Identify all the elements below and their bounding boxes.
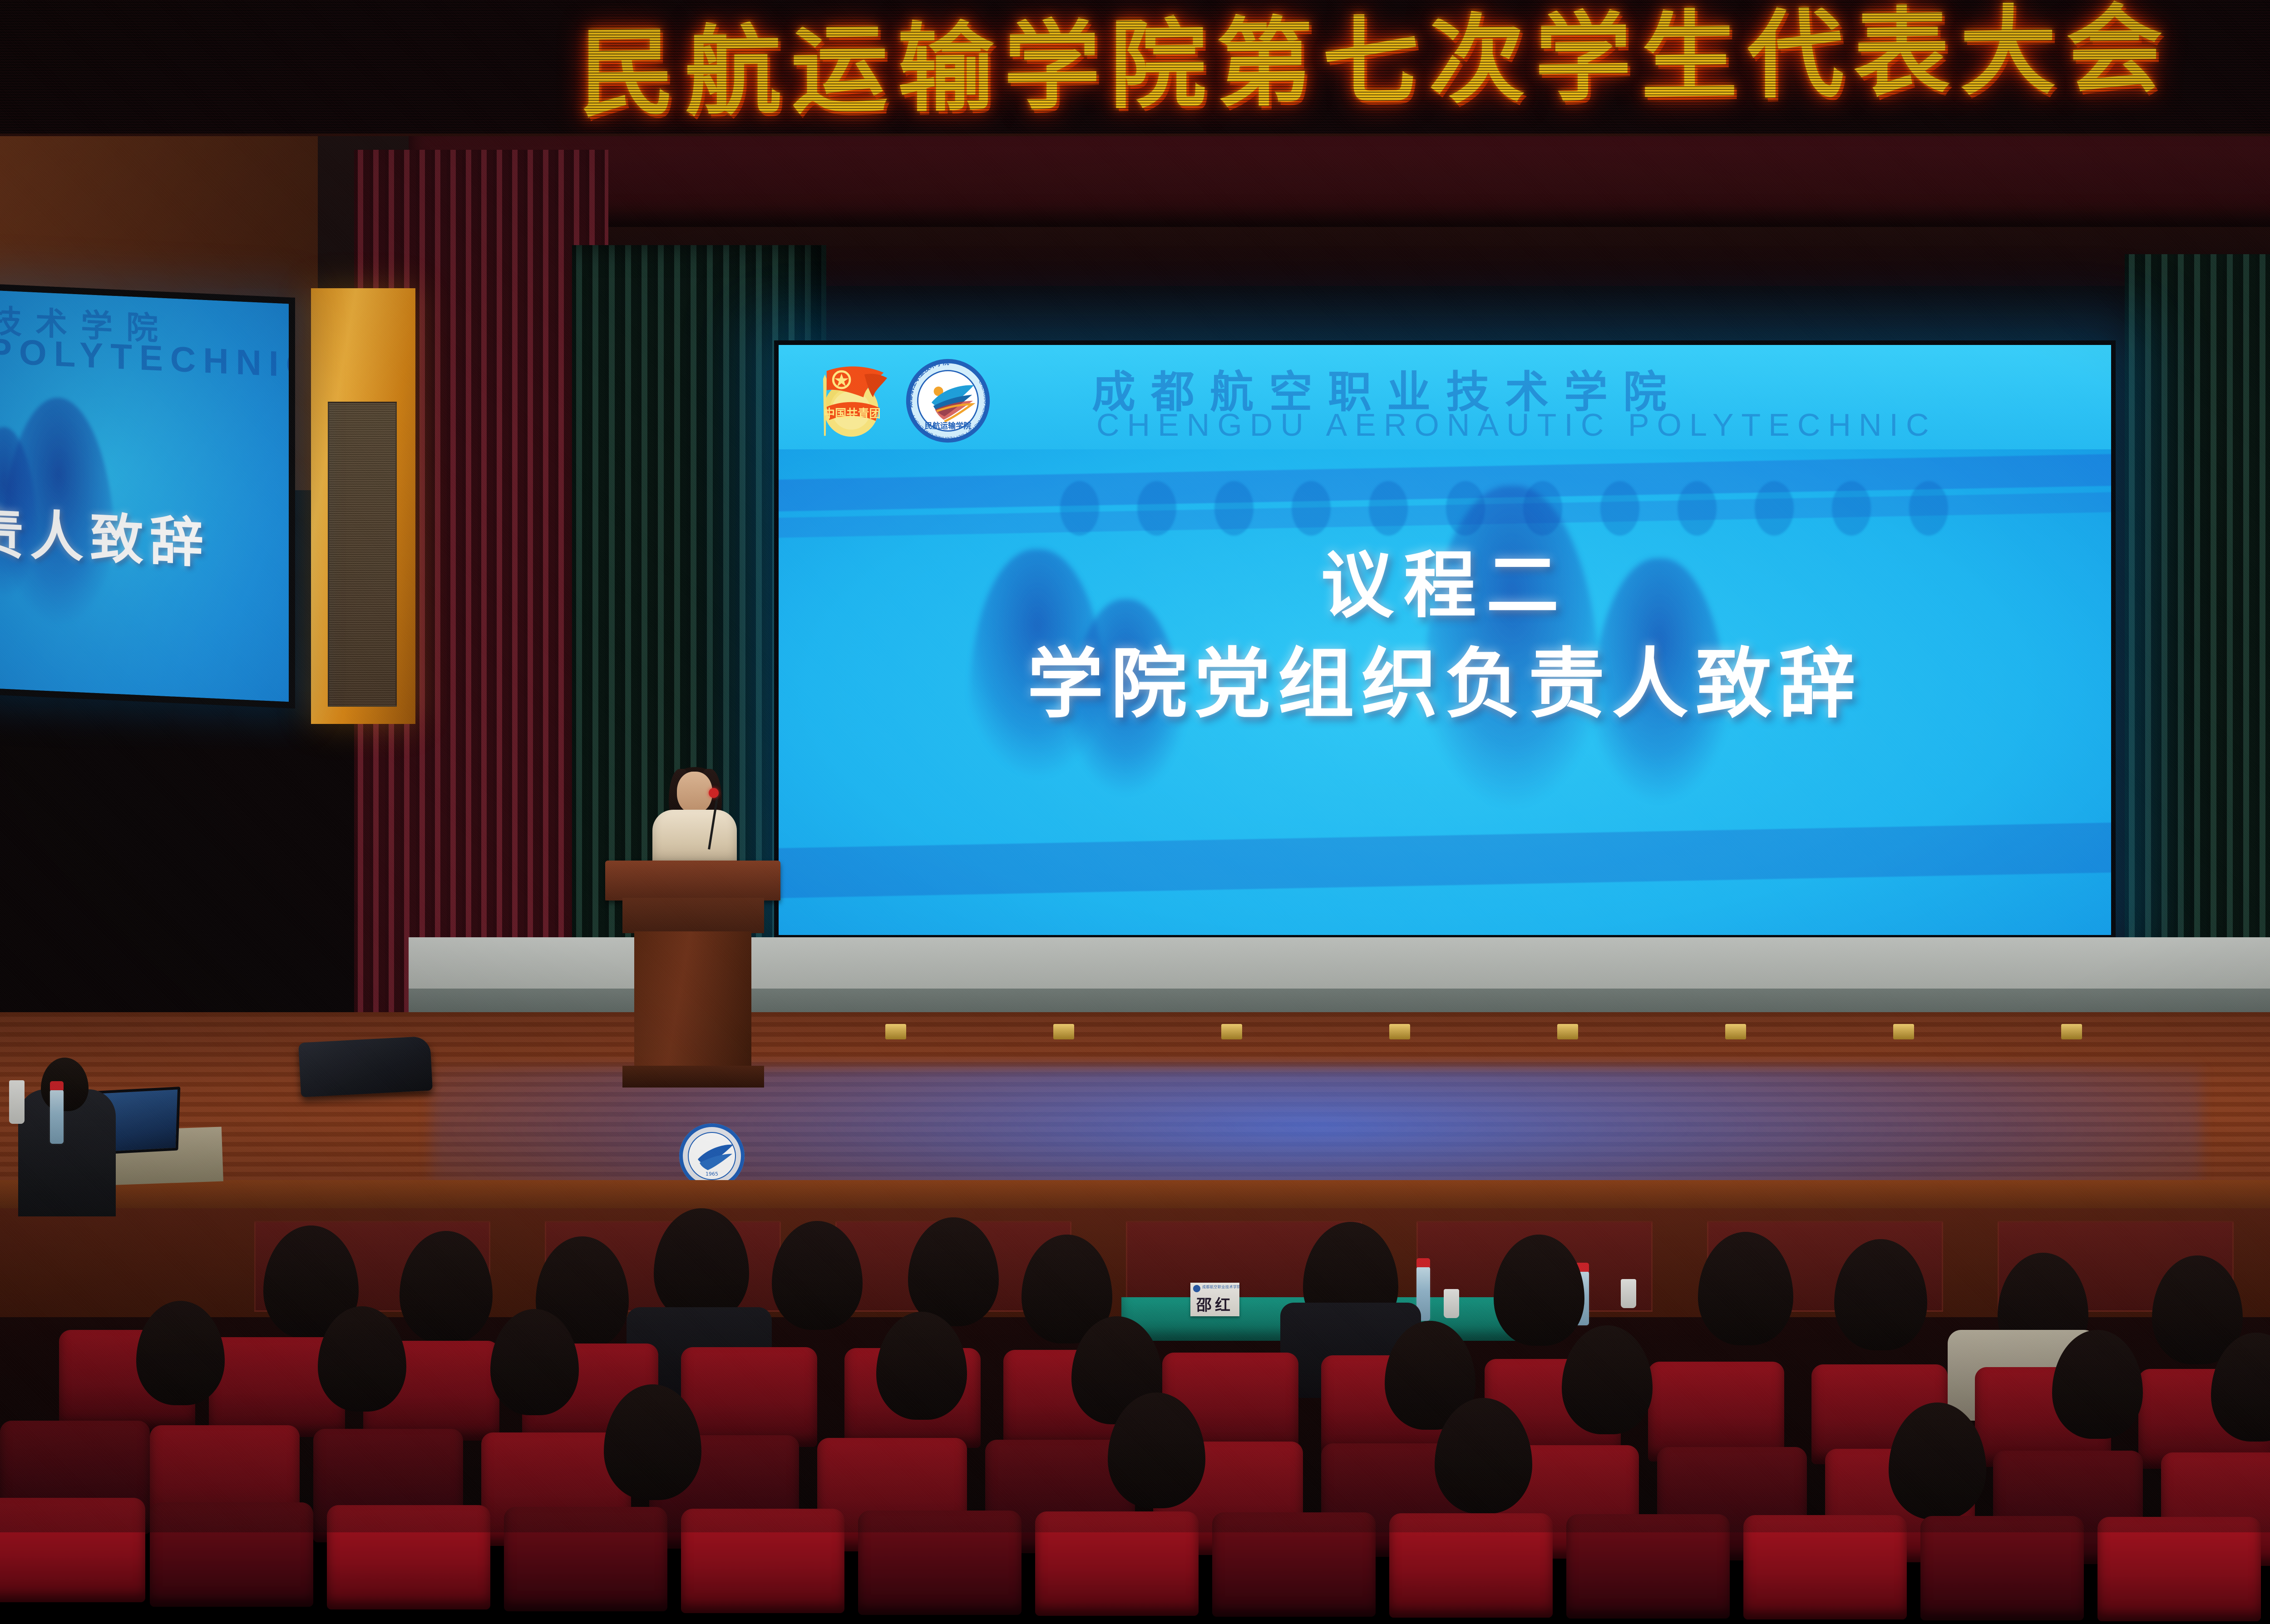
slide-title-block: 议程二 学院党组织负责人致辞 (779, 545, 2111, 727)
paper-cup (1621, 1279, 1636, 1308)
audience-seat (327, 1505, 490, 1609)
footlight (1053, 1024, 1074, 1039)
audience-seat (1743, 1515, 1907, 1619)
water-bottle (50, 1089, 64, 1144)
svg-text:中国共青团: 中国共青团 (824, 407, 881, 420)
podium-neck (622, 898, 764, 933)
presenter-figure (649, 772, 740, 867)
slide-institution-en: CHENGDU AERONAUTIC POLYTECHNIC (1096, 407, 2073, 443)
slide-ribbon (774, 821, 2116, 899)
svg-text:1965: 1965 (706, 1171, 718, 1177)
audience-seat (681, 1347, 817, 1447)
slide-title-line2: 学院党组织负责人致辞 (779, 641, 2111, 727)
presenter-head (677, 772, 712, 813)
audience-seat (2097, 1517, 2261, 1621)
footlight (1725, 1024, 1746, 1039)
footlight (2061, 1024, 2082, 1039)
speaker-grille (328, 402, 397, 707)
placard-org: 成都航空职业技术学院 (1202, 1284, 1239, 1289)
audience-seat (1035, 1511, 1199, 1616)
audience-seat (1648, 1362, 1784, 1462)
footlight (885, 1024, 906, 1039)
footlight (1221, 1024, 1242, 1039)
microphone-head-icon (709, 788, 719, 798)
communist-youth-league-emblem-icon: 中国共青团 (805, 361, 894, 438)
paper-cup (1444, 1289, 1459, 1318)
led-banner-text: 民航运输学院第七次学生代表大会 (395, 0, 2270, 136)
audience-seat (504, 1507, 667, 1611)
name-placard: 成都航空职业技术学院 邵红 (1190, 1283, 1239, 1316)
curtain-green-right (2125, 254, 2270, 1044)
audience-seat (150, 1502, 313, 1607)
monitor-visible-text: 责人致辞 (0, 489, 295, 581)
paper-cup (9, 1080, 25, 1124)
footlight (1893, 1024, 1914, 1039)
bottle-cap (50, 1081, 64, 1090)
podium-top (605, 861, 780, 901)
placard-logo-icon (1193, 1285, 1200, 1292)
school-crest-icon: 民航运输学院 成都航空职业技术学院 CHENGDU AERONAUTIC POL… (905, 358, 991, 444)
monitor-institution-en: POLYTECHNIC (0, 330, 295, 386)
footlight (1389, 1024, 1410, 1039)
presenter-jacket (652, 810, 737, 866)
house-wood-rail (0, 1180, 2270, 1212)
audience-seat (1920, 1516, 2084, 1620)
screen-surface: 成都航空职业技术学院 CHENGDU AERONAUTIC POLYTECHNI… (779, 345, 2111, 935)
slide-title-line1: 议程二 (779, 545, 2111, 626)
audience-seat (0, 1498, 145, 1602)
bottle-cap (1416, 1258, 1430, 1267)
side-monitor-left: 技术学院 POLYTECHNIC 责人致辞 (0, 283, 295, 709)
audience-seat (858, 1511, 1021, 1615)
audience-seat (1212, 1512, 1376, 1617)
stage-floor-monitor-left (298, 1036, 433, 1097)
placard-name: 邵红 (1190, 1293, 1239, 1315)
audience-seat (1566, 1514, 1730, 1619)
audience-seat (681, 1509, 844, 1613)
slide-window-row (779, 481, 2111, 545)
stage-valance (409, 136, 2270, 227)
speaker-column-left (311, 288, 415, 724)
audience-seat (1389, 1513, 1553, 1618)
podium-group: 1965 (615, 772, 770, 1098)
podium-base (622, 1066, 764, 1088)
svg-text:民航运输学院: 民航运输学院 (925, 421, 972, 431)
podium-body: 1965 (634, 931, 751, 1068)
auditorium-scene: 民航运输学院第七次学生代表大会 (0, 0, 2270, 1532)
led-banner: 民航运输学院第七次学生代表大会 (0, 0, 2270, 136)
footlight (1557, 1024, 1578, 1039)
monitor-surface: 技术学院 POLYTECHNIC 责人致辞 (0, 290, 289, 702)
main-led-screen: 成都航空职业技术学院 CHENGDU AERONAUTIC POLYTECHNI… (774, 340, 2116, 940)
